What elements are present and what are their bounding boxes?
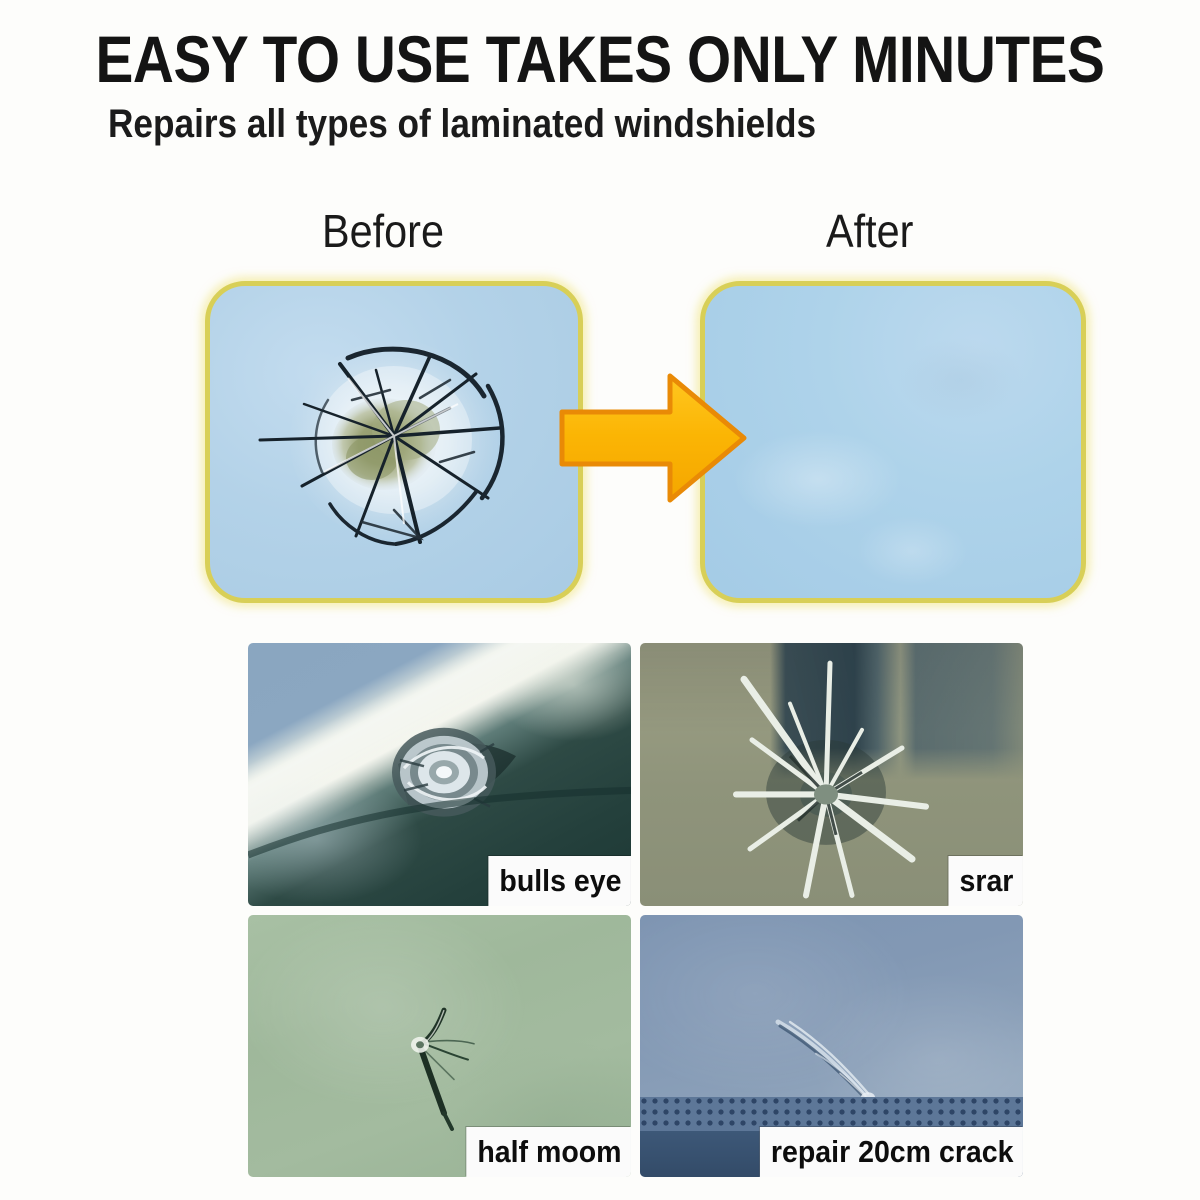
damage-tile-label-repair-20cm-crack: repair 20cm crack: [760, 1127, 1023, 1177]
damage-tile-bulls-eye[interactable]: bulls eye: [248, 643, 631, 906]
damage-tile-label-half-moom: half moom: [467, 1127, 631, 1177]
before-label: Before: [322, 208, 444, 254]
page-subheadline: Repairs all types of laminated windshiel…: [108, 104, 816, 144]
damage-tile-repair-20cm-crack[interactable]: repair 20cm crack: [640, 915, 1023, 1178]
star-break-crack-graphic: [244, 312, 544, 572]
after-panel: [700, 281, 1086, 603]
damage-tile-label-srar: srar: [949, 856, 1023, 906]
damage-type-grid: bulls eye: [248, 643, 1023, 1177]
before-panel: [205, 281, 583, 603]
damage-tile-label-bulls-eye: bulls eye: [489, 856, 631, 906]
windshield-frit-dot-band: [640, 1097, 1023, 1131]
damage-tile-srar[interactable]: srar: [640, 643, 1023, 906]
after-label: After: [826, 208, 913, 254]
page-headline: EASY TO USE TAKES ONLY MINUTES: [84, 26, 1116, 92]
right-arrow-icon: [558, 368, 748, 508]
damage-tile-half-moom[interactable]: half moom: [248, 915, 631, 1178]
